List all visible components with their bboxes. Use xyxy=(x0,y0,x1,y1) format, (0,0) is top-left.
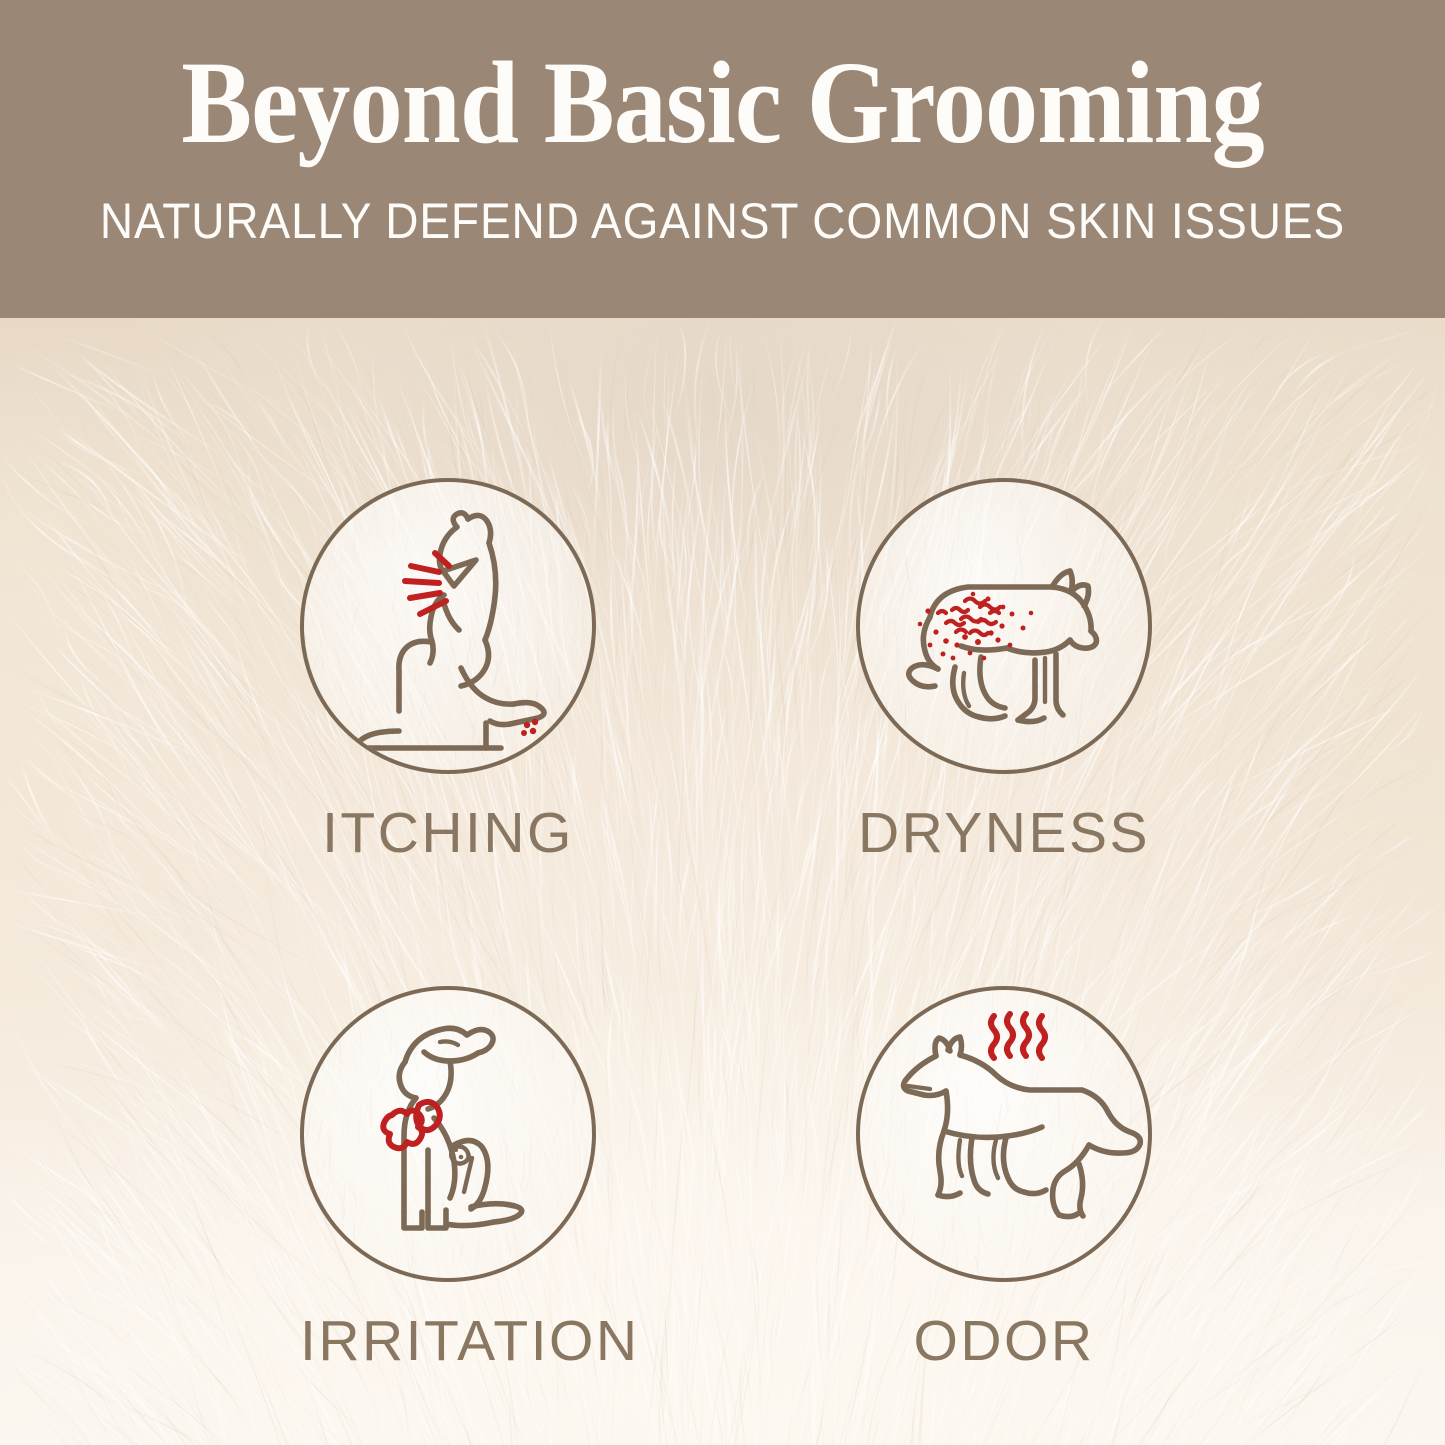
dog-irritated-patches-icon xyxy=(300,986,596,1282)
feature-label-odor: ODOR xyxy=(856,1308,1152,1374)
dog-dry-flaky-skin-icon xyxy=(856,478,1152,774)
page-title: Beyond Basic Grooming xyxy=(72,44,1373,162)
feature-itching: ITCHING xyxy=(300,478,596,774)
poster: Beyond Basic Grooming NATURALLY DEFEND A… xyxy=(0,0,1445,1445)
header-band: Beyond Basic Grooming NATURALLY DEFEND A… xyxy=(0,0,1445,318)
feature-odor: ODOR xyxy=(856,986,1152,1282)
page-subtitle: NATURALLY DEFEND AGAINST COMMON SKIN ISS… xyxy=(58,196,1387,246)
dog-scratching-icon xyxy=(300,478,596,774)
dog-odor-waves-icon xyxy=(856,986,1152,1282)
feature-label-dryness: DRYNESS xyxy=(856,800,1152,866)
feature-dryness: DRYNESS xyxy=(856,478,1152,774)
fur-background xyxy=(0,318,1445,1445)
feature-irritation: IRRITATION xyxy=(300,986,596,1282)
feature-label-itching: ITCHING xyxy=(300,800,596,866)
fur-strands xyxy=(0,318,1445,1445)
feature-label-irritation: IRRITATION xyxy=(300,1308,596,1374)
